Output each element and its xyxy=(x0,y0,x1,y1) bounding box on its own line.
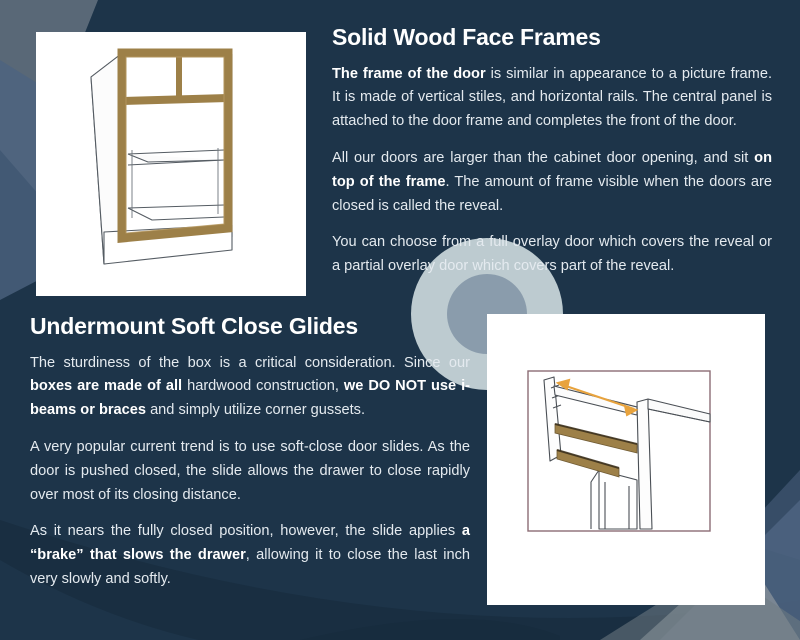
paragraph: The frame of the door is similar in appe… xyxy=(332,63,772,134)
paragraph: All our doors are larger than the cabine… xyxy=(332,147,772,218)
cabinet-face-frame-illustration xyxy=(36,32,306,296)
paragraph: You can choose from a full overlay door … xyxy=(332,231,772,279)
body-text-face-frames: The frame of the door is similar in appe… xyxy=(332,63,772,279)
paragraph: A very popular current trend is to use s… xyxy=(30,436,470,507)
section-solid-wood-face-frames: Solid Wood Face Frames The frame of the … xyxy=(332,24,772,279)
page-title-glides: Undermount Soft Close Glides xyxy=(30,313,470,341)
slide-canvas: Solid Wood Face Frames The frame of the … xyxy=(0,0,800,640)
paragraph: The sturdiness of the box is a critical … xyxy=(30,352,470,423)
undermount-drawer-glide-illustration xyxy=(487,314,765,605)
section-undermount-soft-close-glides: Undermount Soft Close Glides The sturdin… xyxy=(30,313,470,592)
page-title-face-frames: Solid Wood Face Frames xyxy=(332,24,772,52)
paragraph: As it nears the fully closed position, h… xyxy=(30,520,470,591)
body-text-glides: The sturdiness of the box is a critical … xyxy=(30,352,470,592)
